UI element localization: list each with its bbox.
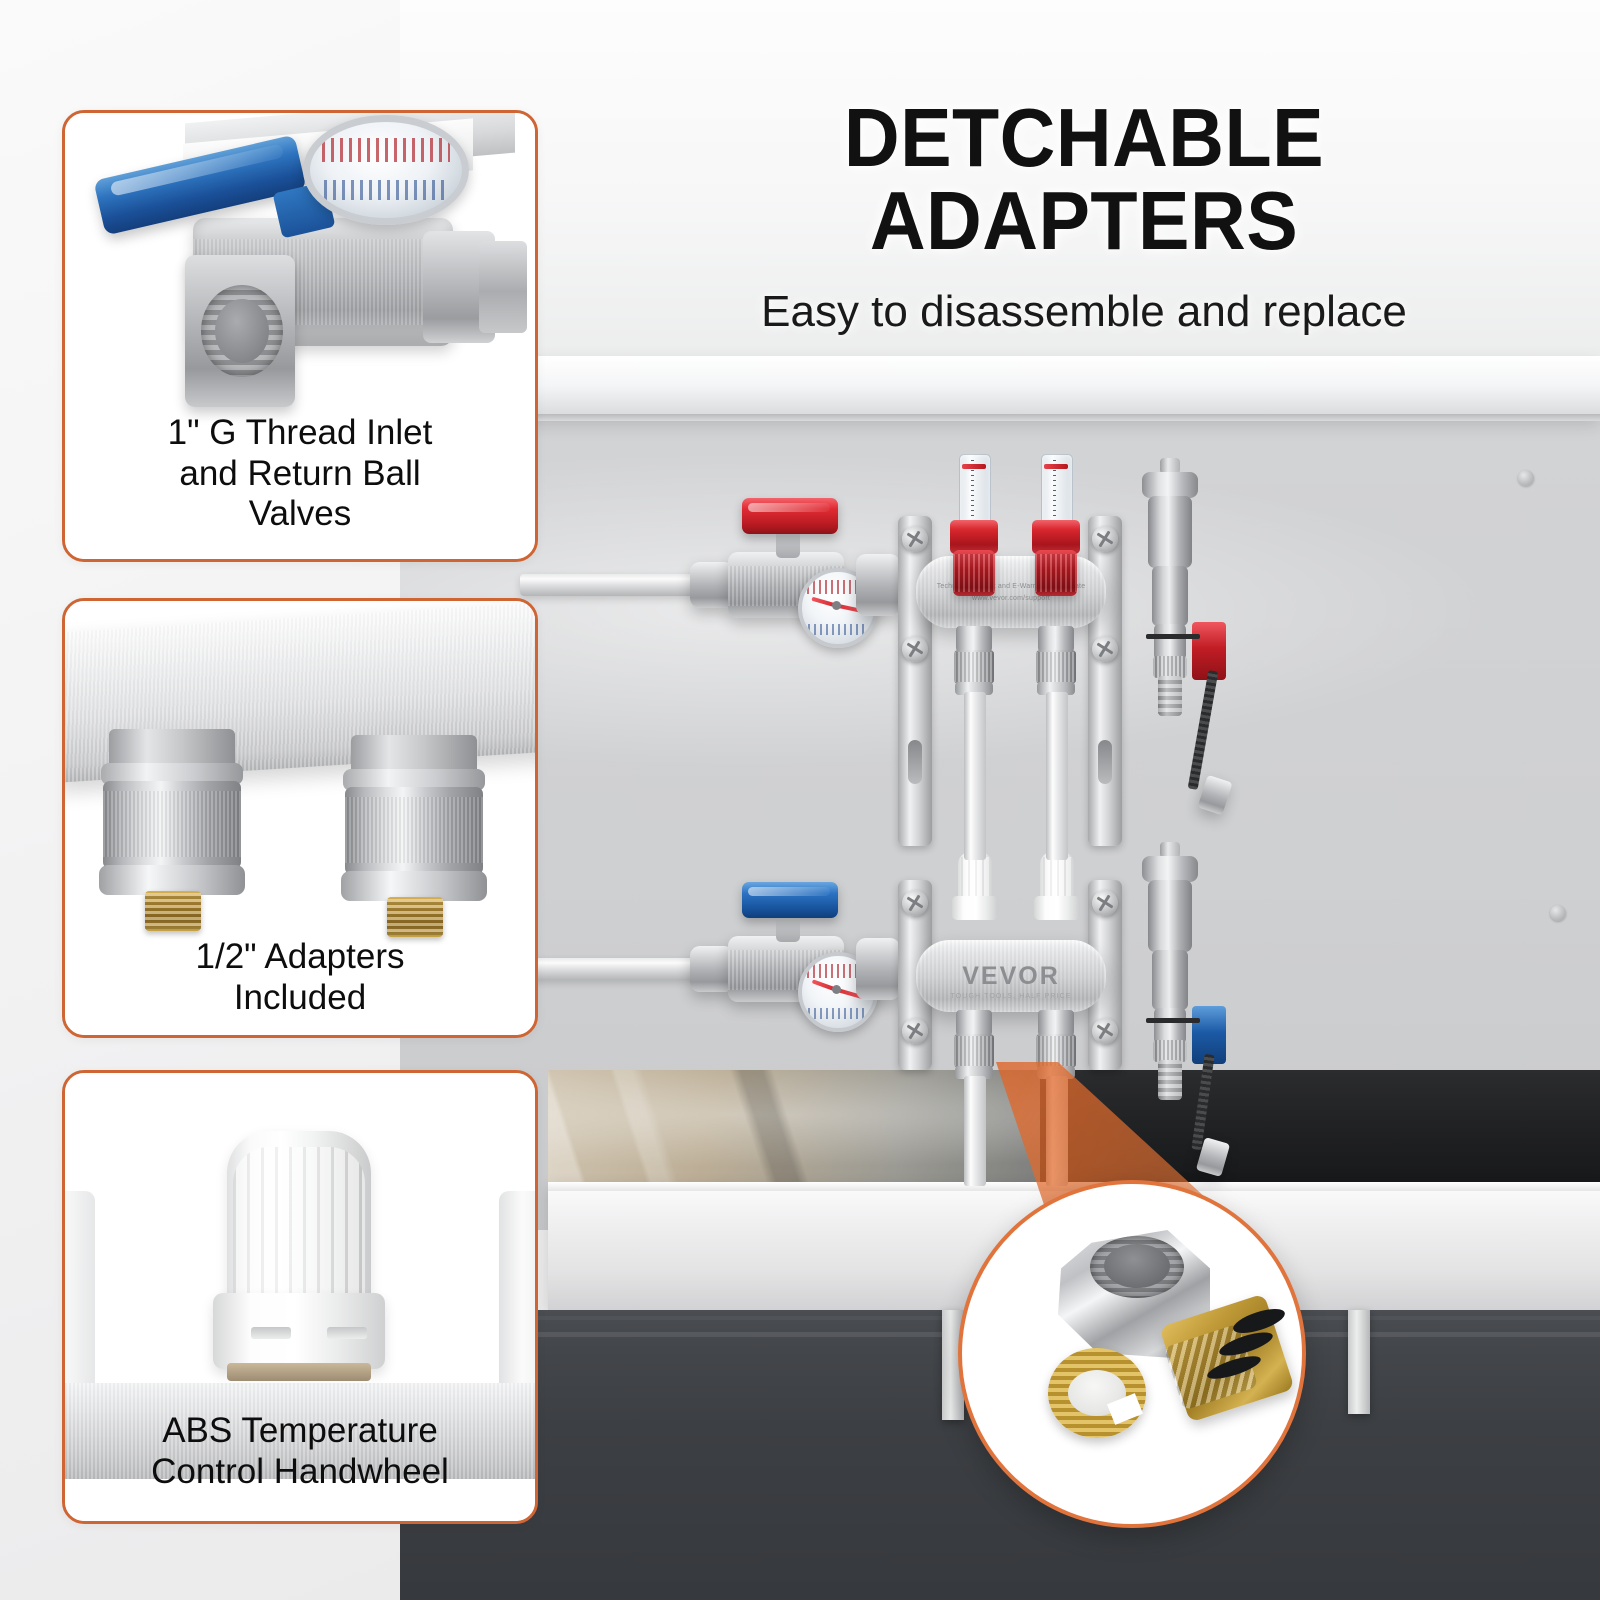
gauge-blue-ticks (808, 1008, 868, 1019)
air-vent-head (1142, 472, 1198, 498)
handwheel-base-washer (227, 1363, 371, 1381)
adapter-knurl-texture (103, 791, 241, 857)
supply-bracket-right-slot (1098, 740, 1112, 784)
card1-valve-union-nut-2 (479, 241, 527, 333)
return-valve-lever-highlight (748, 887, 830, 896)
caption-line: and Return Ball (65, 454, 535, 495)
air-vent-neck (1152, 566, 1188, 626)
wall-screw (1518, 470, 1534, 486)
gauge-red-ticks (322, 138, 450, 162)
card3-side-handwheel-left (62, 1191, 95, 1393)
supply-manifold-engraving-line2: www.vevor.com/support (916, 594, 1106, 605)
vevor-brand-mark: VEVOR TOUGH TOOLS, HALF PRICE (916, 962, 1106, 1000)
vevor-tagline: TOUGH TOOLS, HALF PRICE (916, 993, 1106, 1000)
feature-card-ball-valves: 1" G Thread Inlet and Return Ball Valves (62, 110, 538, 562)
supply-hose-clamp-band (1146, 634, 1200, 639)
return-inlet-pipe (520, 958, 700, 980)
feature-card-adapters: 1/2" Adapters Included (62, 598, 538, 1038)
cabinet-leg (1348, 1310, 1370, 1414)
supply-bracket-left-screw-bottom (902, 636, 928, 662)
drain-knurled-collar (1153, 1040, 1187, 1062)
drain-valve-body (1154, 624, 1186, 660)
return-bracket-left-screw-bottom (902, 1018, 928, 1044)
return-hose-clamp-band (1146, 1018, 1200, 1023)
drain-knurled-collar (1153, 656, 1187, 678)
compression-nut-inner-bore (1104, 1244, 1170, 1288)
return-valve-outlet-nut (856, 938, 900, 1000)
air-vent-head (1142, 856, 1198, 882)
supply-bracket-left-slot (908, 740, 922, 784)
fitting-hex (956, 1010, 992, 1036)
supply-bracket-left-screw-top (902, 526, 928, 552)
adapter-knurl-texture (345, 797, 483, 863)
flow-meter-collar (1032, 520, 1080, 554)
gauge-hub (832, 601, 841, 610)
return-bracket-right-screw-bottom (1092, 1018, 1118, 1044)
flow-meter-grip-ridges (953, 554, 995, 592)
supply-hose-clamp (1197, 775, 1232, 815)
vevor-logo-text: VEVOR (916, 962, 1106, 991)
gauge-blue-ticks (324, 180, 448, 200)
caption-line: Control Handwheel (65, 1452, 535, 1493)
flow-meter-float (962, 464, 986, 469)
handwheel-flutes (961, 857, 989, 897)
page-subtitle: Easy to disassemble and replace (604, 288, 1564, 336)
air-vent-body (1148, 496, 1192, 568)
supply-manifold-engraving-line1: Technical Support and E-Warranty Certifi… (916, 582, 1106, 593)
feature-card-adapters-caption: 1/2" Adapters Included (65, 937, 535, 1018)
manifold-assembly: Technical Support and E-Warranty Certifi… (680, 440, 1320, 1120)
fitting-hex (1038, 1010, 1074, 1036)
card3-side-handwheel-right (499, 1191, 538, 1393)
flow-meter-collar (950, 520, 998, 554)
drain-valve-body (1154, 1008, 1186, 1044)
feature-card-handwheel-caption: ABS Temperature Control Handwheel (65, 1411, 535, 1492)
supply-bracket-right-screw-top (1092, 526, 1118, 552)
handwheel-collar (952, 896, 998, 920)
handwheel-collar (1034, 896, 1080, 920)
handwheel-riser-2 (1046, 818, 1068, 860)
supply-inlet-pipe (520, 574, 700, 596)
return-outlet-pipe-1 (964, 1076, 986, 1186)
caption-line: 1" G Thread Inlet (65, 413, 535, 454)
handwheel-slot (327, 1327, 367, 1339)
headline-block: DETCHABLE ADAPTERS Easy to disassemble a… (604, 96, 1564, 336)
adapter-brass-threads (145, 893, 201, 929)
handwheel-slot (251, 1327, 291, 1339)
page-title: DETCHABLE ADAPTERS (638, 96, 1531, 262)
drain-hose-barb (1158, 676, 1182, 716)
detachable-adapter-detail-circle (958, 1180, 1306, 1528)
air-vent-neck (1152, 950, 1188, 1010)
counter-lip (390, 356, 1600, 418)
return-bracket-left-screw-top (902, 890, 928, 916)
gauge-blue-ticks (808, 624, 868, 635)
handwheel-riser-1 (964, 818, 986, 860)
wall-screw (1550, 905, 1566, 921)
feature-card-handwheel: ABS Temperature Control Handwheel (62, 1070, 538, 1524)
flow-meter-float (1044, 464, 1068, 469)
caption-line: Included (65, 978, 535, 1019)
fitting-knurl-texture (1036, 1036, 1076, 1066)
supply-valve-lever-highlight (748, 503, 830, 512)
product-marketing-image: Technical Support and E-Warranty Certifi… (0, 0, 1600, 1600)
fitting-knurl-texture (1036, 652, 1076, 682)
card1-temperature-gauge (303, 115, 469, 225)
adapter-brass-threads (387, 899, 443, 935)
supply-bracket-right-screw-bottom (1092, 636, 1118, 662)
caption-line: ABS Temperature (65, 1411, 535, 1452)
drain-hose-barb (1158, 1060, 1182, 1100)
fitting-knurl-texture (954, 1036, 994, 1066)
supply-valve-outlet-nut (856, 554, 900, 616)
feature-card-ball-valves-caption: 1" G Thread Inlet and Return Ball Valves (65, 413, 535, 535)
flow-meter-grip-ridges (1035, 554, 1077, 592)
gauge-hub (832, 985, 841, 994)
fitting-hex (956, 626, 992, 652)
caption-line: 1/2" Adapters (65, 937, 535, 978)
caption-line: Valves (65, 494, 535, 535)
handwheel-flutes (233, 1147, 365, 1299)
air-vent-body (1148, 880, 1192, 952)
supply-drain-hose (1188, 670, 1219, 790)
fitting-knurl-texture (954, 652, 994, 682)
card1-thread-inner-bore (215, 299, 269, 363)
handwheel-flutes (1043, 857, 1071, 897)
counter-edge (390, 414, 1600, 421)
fitting-hex (1038, 626, 1074, 652)
return-bracket-right-screw-top (1092, 890, 1118, 916)
